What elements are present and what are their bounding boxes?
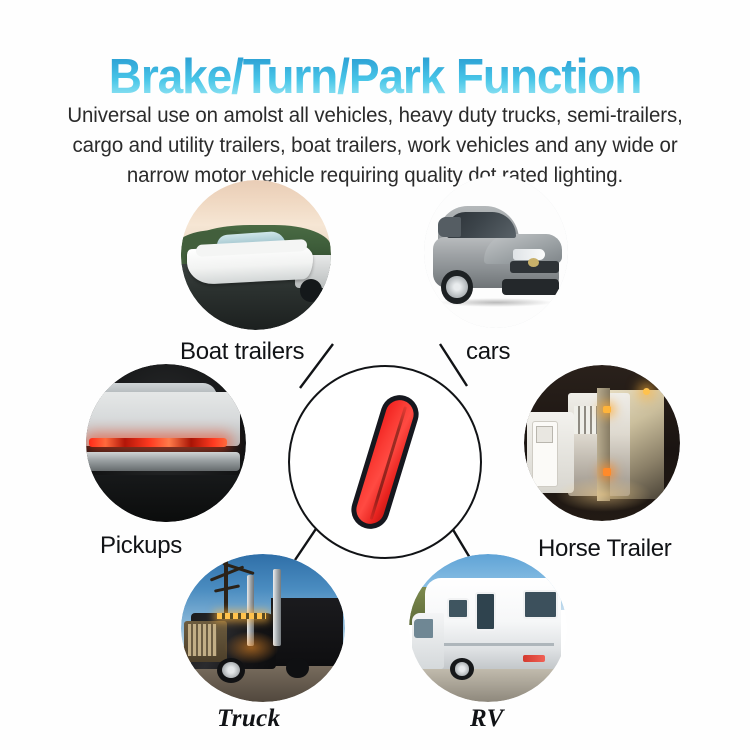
product-infographic: Brake/Turn/Park Function Universal use o… <box>0 0 750 750</box>
label-cars: cars <box>466 338 510 366</box>
node-rv[interactable] <box>409 554 567 702</box>
label-pickups: Pickups <box>100 532 182 560</box>
label-boat-trailers: Boat trailers <box>180 338 304 366</box>
car-photo <box>424 176 568 328</box>
pickup-photo <box>86 364 246 522</box>
usage-diagram: Boat trailers <box>0 160 750 750</box>
label-truck: Truck <box>217 705 281 733</box>
center-hub[interactable] <box>288 365 482 559</box>
label-rv: RV <box>470 705 504 733</box>
node-cars[interactable] <box>424 176 568 328</box>
led-light-bar <box>347 390 424 533</box>
node-pickups[interactable] <box>86 364 246 522</box>
node-truck[interactable] <box>181 554 345 702</box>
truck-photo <box>181 554 345 702</box>
light-bar-lens <box>353 397 417 528</box>
boat-trailer-photo <box>181 180 331 330</box>
node-boat-trailers[interactable] <box>181 180 331 330</box>
page-title: Brake/Turn/Park Function <box>23 49 728 105</box>
rv-photo <box>409 554 567 702</box>
node-horse-trailer[interactable] <box>524 365 680 521</box>
horse-trailer-photo <box>524 365 680 521</box>
